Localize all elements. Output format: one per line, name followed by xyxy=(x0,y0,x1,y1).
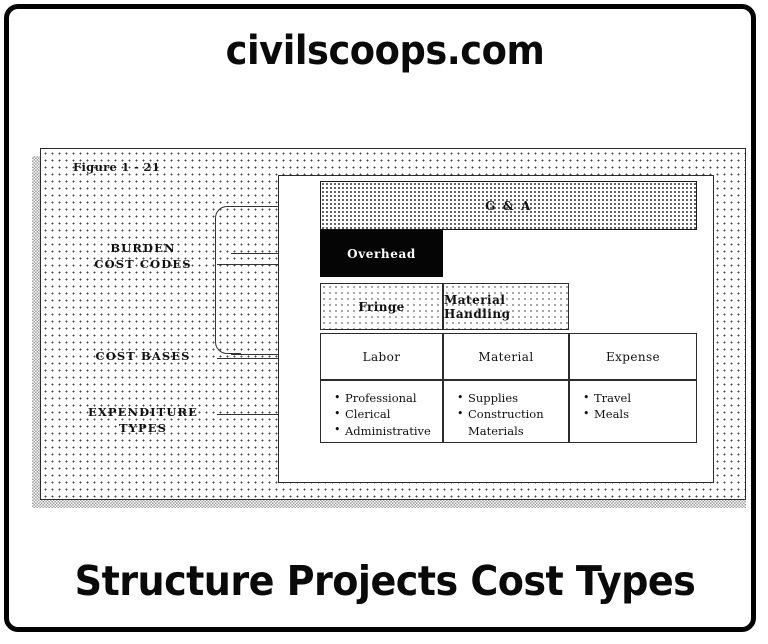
list-item: Professional xyxy=(345,390,442,406)
list-item: Supplies xyxy=(468,390,568,406)
list: Professional Clerical Administrative xyxy=(333,390,442,439)
list-expense-expenditure-types: Travel Meals xyxy=(569,380,697,443)
box-g-and-a: G & A xyxy=(320,181,697,230)
list-item: Travel xyxy=(594,390,696,406)
row-label-burden-cost-codes: BURDEN COST CODES xyxy=(73,241,213,272)
list-item: Administrative xyxy=(345,423,442,439)
list-material-expenditure-types: Supplies Construction Materials xyxy=(443,380,569,443)
box-material: Material xyxy=(443,333,569,380)
figure-panel: Figure 1 - 21 BURDEN COST CODES COST BAS… xyxy=(40,148,746,500)
connector-burden-bracket xyxy=(215,206,241,354)
list: Travel Meals xyxy=(582,390,696,423)
list-item: Clerical xyxy=(345,406,442,422)
row-label-cost-bases: COST BASES xyxy=(73,349,213,365)
site-title: civilscoops.com xyxy=(39,31,731,71)
page-card: civilscoops.com Figure 1 - 21 BURDEN COS… xyxy=(4,4,756,632)
page-caption: Structure Projects Cost Types xyxy=(35,561,734,602)
box-material-handling: Material Handling xyxy=(443,283,569,330)
list-item: Construction Materials xyxy=(468,406,568,439)
list-item: Meals xyxy=(594,406,696,422)
list: Supplies Construction Materials xyxy=(456,390,568,439)
list-labor-expenditure-types: Professional Clerical Administrative xyxy=(320,380,443,443)
figure-label: Figure 1 - 21 xyxy=(73,160,160,174)
box-expense: Expense xyxy=(569,333,697,380)
box-labor: Labor xyxy=(320,333,443,380)
box-fringe: Fringe xyxy=(320,283,443,330)
row-label-expenditure-types: EXPENDITURE TYPES xyxy=(63,405,223,436)
box-overhead: Overhead xyxy=(320,230,443,277)
